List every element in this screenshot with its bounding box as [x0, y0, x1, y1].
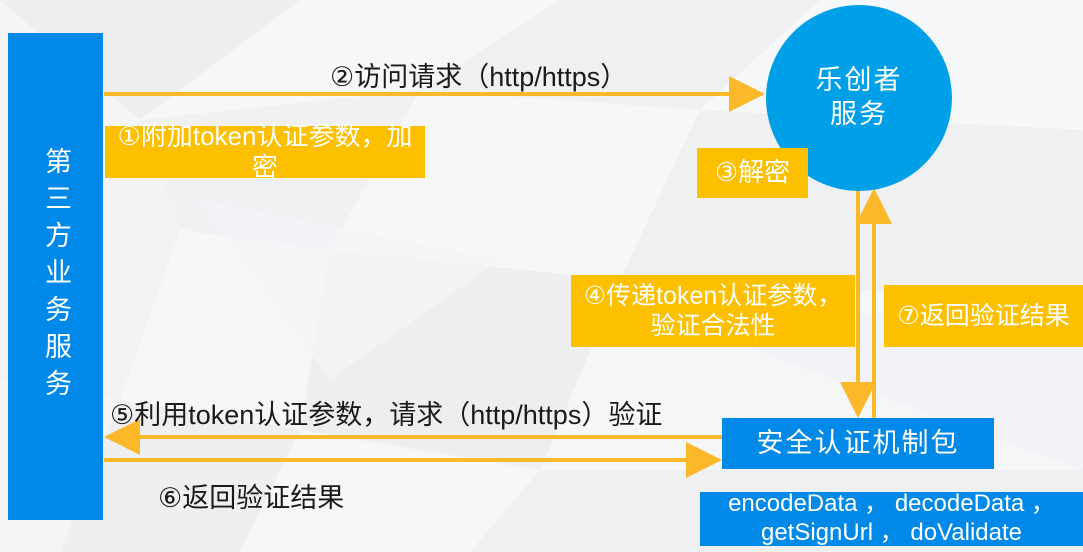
- step-7-box[interactable]: ⑦返回验证结果: [884, 285, 1083, 347]
- step-3-label: ③解密: [715, 157, 790, 188]
- node-service-circle-line1: 乐创者: [816, 64, 903, 98]
- step-1-box[interactable]: ①附加token认证参数，加密: [105, 126, 425, 178]
- node-third-party-service[interactable]: 第三方业务服务: [8, 33, 103, 520]
- step-7-label: ⑦返回验证结果: [897, 301, 1069, 331]
- diagram-canvas: 第三方业务服务 乐创者 服务 ①附加token认证参数，加密 ②访问请求（htt…: [0, 0, 1083, 552]
- node-auth-methods-label: encodeData ， decodeData ， getSignUrl ， d…: [708, 490, 1075, 548]
- step-2-label: ②访问请求（http/https）: [330, 55, 627, 94]
- step-6-label: ⑥返回验证结果: [158, 476, 344, 515]
- step-5-label: ⑤利用token认证参数，请求（http/https）验证: [110, 393, 662, 432]
- node-auth-package-label: 安全认证机制包: [757, 427, 960, 459]
- node-service-circle-line2: 服务: [830, 98, 888, 132]
- node-auth-package[interactable]: 安全认证机制包: [722, 418, 994, 469]
- step-4-box[interactable]: ④传递token认证参数，验证合法性: [571, 275, 855, 347]
- step-3-box[interactable]: ③解密: [697, 148, 808, 198]
- node-auth-methods[interactable]: encodeData ， decodeData ， getSignUrl ， d…: [700, 492, 1083, 546]
- step-4-label: ④传递token认证参数，验证合法性: [577, 281, 849, 341]
- node-third-party-service-label: 第三方业务服务: [42, 147, 69, 406]
- step-1-label: ①附加token认证参数，加密: [105, 121, 425, 183]
